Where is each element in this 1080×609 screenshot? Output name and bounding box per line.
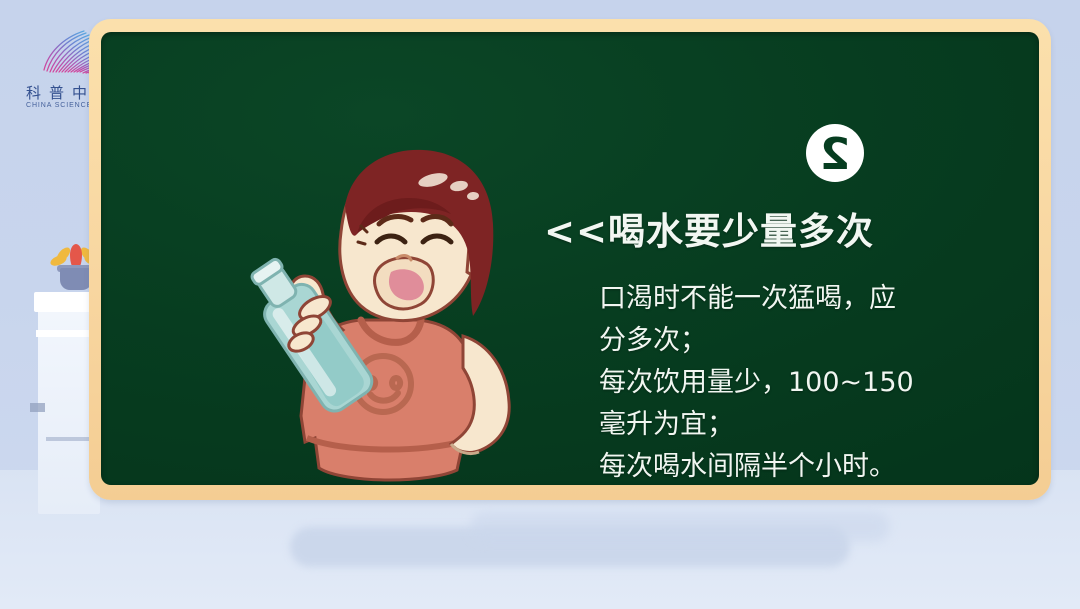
- floor-shadow-secondary: [470, 512, 890, 542]
- plant-pot: [60, 268, 92, 290]
- body-line: 毫升为宜；: [599, 404, 1019, 446]
- body-line: 口渴时不能一次猛喝，应: [599, 278, 1019, 320]
- circle-number-badge: 2: [804, 122, 866, 184]
- body-line: 每次喝水间隔半个小时。: [599, 446, 1019, 485]
- body-line: 分多次；: [599, 320, 1019, 362]
- board-headline: <<喝水要少量多次: [544, 201, 874, 255]
- slide-canvas: 科普中国 CHINA SCIENCE COMMUNICATION: [0, 0, 1080, 609]
- body-line: 每次饮用量少，100~150: [599, 362, 1019, 404]
- child-drinking-water-illustration: [211, 120, 571, 485]
- chalkboard-surface: 2 <<喝水要少量多次 口渴时不能一次猛喝，应 分多次； 每次饮用量少，100~…: [101, 32, 1039, 485]
- board-body-text: 口渴时不能一次猛喝，应 分多次； 每次饮用量少，100~150 毫升为宜； 每次…: [599, 278, 1019, 485]
- cabinet-handle: [30, 403, 45, 412]
- badge-number-text: 2: [820, 129, 851, 180]
- chalkboard-frame: 2 <<喝水要少量多次 口渴时不能一次猛喝，应 分多次； 每次饮用量少，100~…: [89, 19, 1051, 500]
